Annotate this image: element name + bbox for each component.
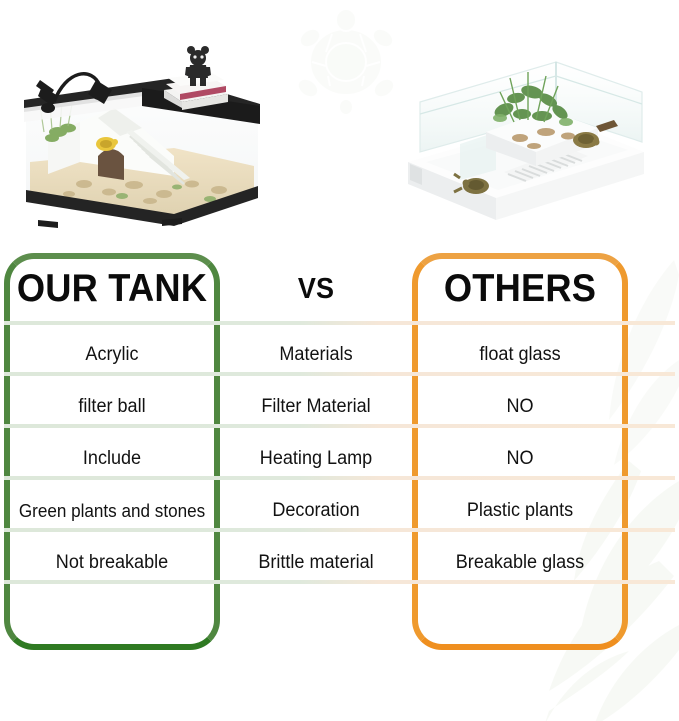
- cell-ours-3: Green plants and stones: [9, 494, 214, 528]
- row-divider-1: [4, 372, 675, 376]
- cell-others-2: NO: [417, 442, 622, 476]
- cell-others-4: Breakable glass: [417, 546, 622, 580]
- cell-ours-4: Not breakable: [9, 546, 214, 580]
- row-divider-4: [4, 528, 675, 532]
- cell-others-3: Plastic plants: [417, 494, 622, 528]
- header-vs: VS: [227, 256, 406, 322]
- others-turtle-tank-photo: [400, 52, 650, 236]
- cell-ours-1: filter ball: [9, 390, 214, 424]
- cell-ours-2: Include: [9, 442, 214, 476]
- cell-ours-0: Acrylic: [9, 338, 214, 372]
- cell-others-1: NO: [417, 390, 622, 424]
- cell-feature-0: Materials: [225, 338, 407, 372]
- header-our-tank: OUR TANK: [12, 256, 213, 322]
- cell-feature-2: Heating Lamp: [225, 442, 407, 476]
- cell-feature-1: Filter Material: [225, 390, 407, 424]
- header-others: OTHERS: [420, 256, 621, 322]
- comparison-table: OUR TANK Acrylic filter ball Include Gre…: [0, 248, 679, 658]
- turtle-watermark: [288, 8, 404, 116]
- cell-feature-4: Brittle material: [225, 546, 407, 580]
- row-divider-5: [4, 580, 675, 584]
- row-divider-2: [4, 424, 675, 428]
- cell-others-0: float glass: [417, 338, 622, 372]
- cell-feature-3: Decoration: [225, 494, 407, 528]
- row-divider-3: [4, 476, 675, 480]
- infographic-root: OUR TANK Acrylic filter ball Include Gre…: [0, 0, 679, 721]
- our-turtle-tank-photo: [14, 44, 262, 230]
